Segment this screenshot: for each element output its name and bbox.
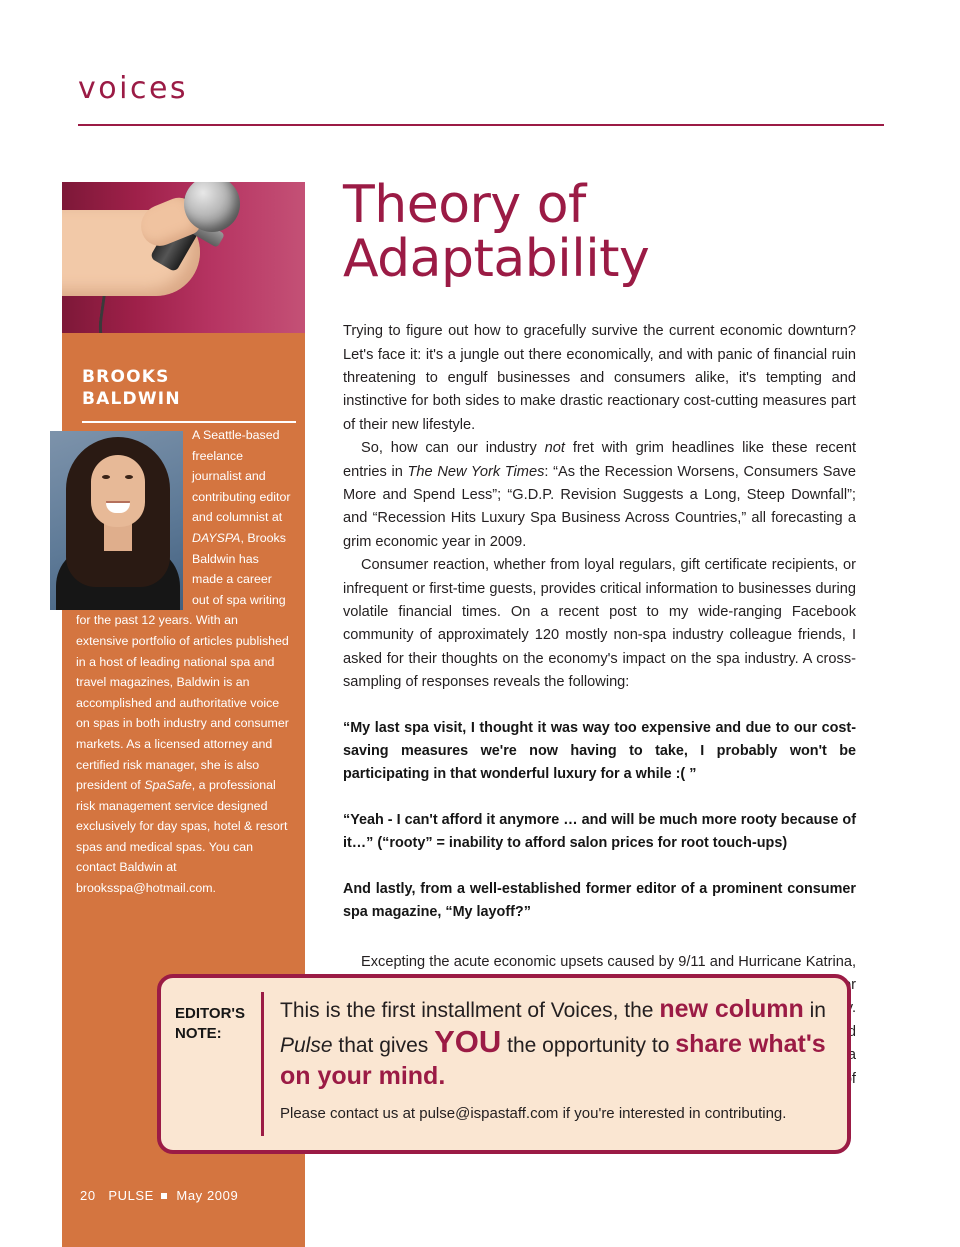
editors-note-box: EDITOR'S NOTE: This is the first install… [157,974,851,1154]
editors-note-content: This is the first installment of Voices,… [264,978,847,1150]
author-bio-part3: , a professional risk management service… [76,778,287,895]
para2-newspaper-title: The New York Times [408,464,545,480]
editors-note-label: EDITOR'S NOTE: [161,978,261,1150]
ednote-highlight-new-column: new column [659,995,803,1023]
ednote-part1: This is the first installment of Voices,… [280,999,659,1022]
article-paragraph-3: Consumer reaction, whether from loyal re… [343,554,856,694]
page-folio: 20 PULSE May 2009 [80,1188,238,1203]
article-headline: Theory of Adaptability [343,178,856,286]
article-paragraph-2: So, how can our industry not fret with g… [343,437,856,554]
ednote-part4: the opportunity to [501,1034,675,1057]
author-bio-company: SpaSafe [144,778,192,792]
folio-square-icon [161,1193,167,1199]
section-divider-rule [78,124,884,126]
reader-quote-1: “My last spa visit, I thought it was way… [343,717,856,787]
portrait-eye-right [125,475,133,479]
ednote-highlight-you: YOU [434,1024,501,1059]
para2-part1: So, how can our industry [361,440,545,456]
author-portrait-photo [50,431,183,610]
reader-quote-3: And lastly, from a well-established form… [343,878,856,925]
microphone-photo [62,182,305,333]
editors-note-label-line1: EDITOR'S [175,1004,261,1024]
folio-page-number: 20 [80,1188,96,1203]
folio-publication: PULSE [108,1188,154,1203]
editors-note-contact: Please contact us at pulse@ispastaff.com… [280,1103,829,1124]
editors-note-label-line2: NOTE: [175,1024,261,1044]
folio-issue-date: May 2009 [176,1188,238,1203]
author-byline: BROOKS BALDWIN [82,367,282,411]
ednote-magazine-name: Pulse [280,1034,333,1057]
portrait-neck [104,523,132,551]
ednote-part2: in [804,999,826,1022]
section-header: voices [78,74,882,104]
author-name-first: BROOKS [82,367,282,389]
section-kicker: voices [78,74,882,104]
para2-emphasis-not: not [545,440,565,456]
editors-note-lead: This is the first installment of Voices,… [280,994,829,1093]
byline-divider-rule [82,421,296,423]
reader-quote-2: “Yeah - I can't afford it anymore … and … [343,809,856,856]
author-bio-publication: DAYSPA [192,531,240,545]
portrait-face [91,455,145,527]
author-name-last: BALDWIN [82,389,282,411]
author-bio-part1: A Seattle-based freelance journalist and… [192,428,291,524]
article-paragraph-1: Trying to figure out how to gracefully s… [343,320,856,437]
portrait-eye-left [102,475,110,479]
ednote-part3: that gives [333,1034,435,1057]
